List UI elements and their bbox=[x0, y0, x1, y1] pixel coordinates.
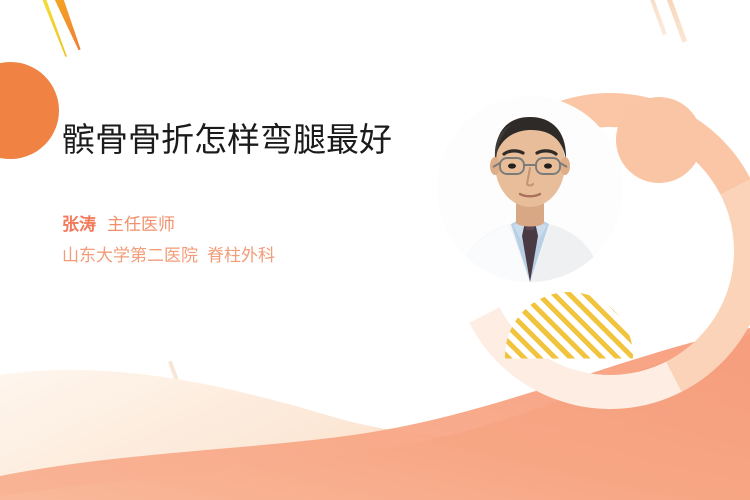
doctor-meta: 张涛主任医师 山东大学第二医院脊柱外科 bbox=[62, 209, 422, 271]
doctor-name-row: 张涛主任医师 bbox=[62, 209, 422, 240]
page-title: 髌骨骨折怎样弯腿最好 bbox=[62, 118, 422, 162]
text-block: 髌骨骨折怎样弯腿最好 张涛主任医师 山东大学第二医院脊柱外科 bbox=[62, 118, 422, 271]
orange-circle-decoration bbox=[0, 62, 59, 159]
doctor-name: 张涛 bbox=[62, 215, 96, 234]
doctor-hospital: 山东大学第二医院 bbox=[62, 246, 198, 265]
faint-diagonal-line-decoration-a bbox=[648, 0, 667, 35]
orange-diagonal-line-decoration bbox=[53, 0, 84, 52]
peach-blob-decoration bbox=[616, 97, 702, 183]
doctor-professional-title: 主任医师 bbox=[107, 215, 175, 234]
yellow-striped-disc-decoration bbox=[505, 292, 633, 420]
doctor-affiliation-row: 山东大学第二医院脊柱外科 bbox=[62, 240, 422, 271]
faint-diagonal-line-decoration-b bbox=[664, 0, 687, 43]
doctor-portrait bbox=[437, 96, 623, 282]
yellow-diagonal-line-decoration bbox=[40, 0, 68, 57]
doctor-department: 脊柱外科 bbox=[207, 246, 275, 265]
doctor-info-card: 髌骨骨折怎样弯腿最好 张涛主任医师 山东大学第二医院脊柱外科 bbox=[0, 0, 750, 500]
faint-diagonal-line-decoration-c bbox=[168, 361, 185, 400]
bottom-wave-decoration bbox=[0, 300, 750, 500]
